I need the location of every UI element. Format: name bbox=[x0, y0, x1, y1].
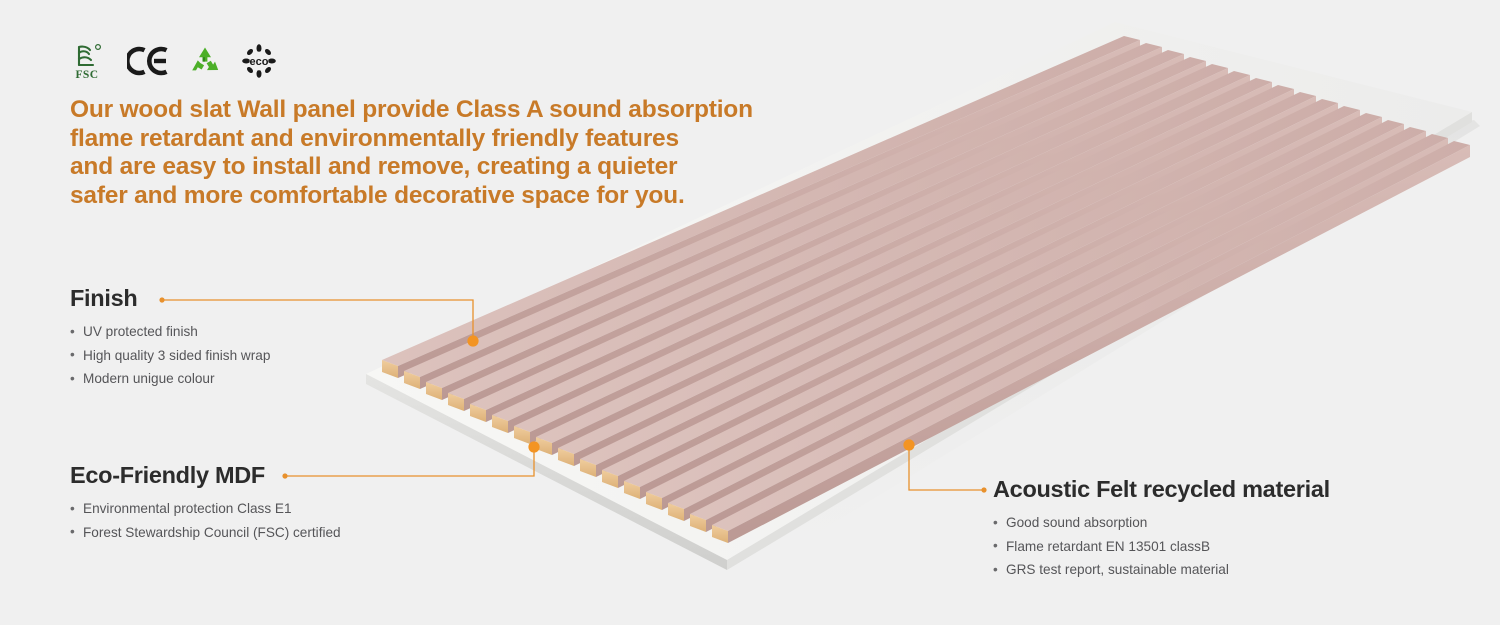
list-item: Modern unigue colour bbox=[70, 367, 270, 391]
list-item: Flame retardant EN 13501 classB bbox=[993, 535, 1330, 559]
hotspot-mdf bbox=[528, 441, 539, 452]
callout-felt-list: Good sound absorption Flame retardant EN… bbox=[993, 511, 1330, 582]
callout-finish-list: UV protected finish High quality 3 sided… bbox=[70, 320, 270, 391]
hotspot-finish bbox=[467, 335, 478, 346]
hotspot-felt bbox=[903, 439, 914, 450]
list-item: Forest Stewardship Council (FSC) certifi… bbox=[70, 521, 341, 545]
list-item: Good sound absorption bbox=[993, 511, 1330, 535]
list-item: UV protected finish bbox=[70, 320, 270, 344]
callout-acoustic-felt: Acoustic Felt recycled material Good sou… bbox=[993, 476, 1330, 582]
infographic-canvas: FSC bbox=[0, 0, 1500, 625]
list-item: GRS test report, sustainable material bbox=[993, 558, 1330, 582]
callout-felt-title: Acoustic Felt recycled material bbox=[993, 476, 1330, 502]
list-item: High quality 3 sided finish wrap bbox=[70, 344, 270, 368]
callout-mdf-title: Eco-Friendly MDF bbox=[70, 462, 341, 488]
list-item: Environmental protection Class E1 bbox=[70, 497, 341, 521]
callout-mdf-list: Environmental protection Class E1 Forest… bbox=[70, 497, 341, 544]
callout-finish: Finish UV protected finish High quality … bbox=[70, 285, 270, 391]
callout-eco-friendly-mdf: Eco-Friendly MDF Environmental protectio… bbox=[70, 462, 341, 544]
callout-finish-title: Finish bbox=[70, 285, 270, 311]
